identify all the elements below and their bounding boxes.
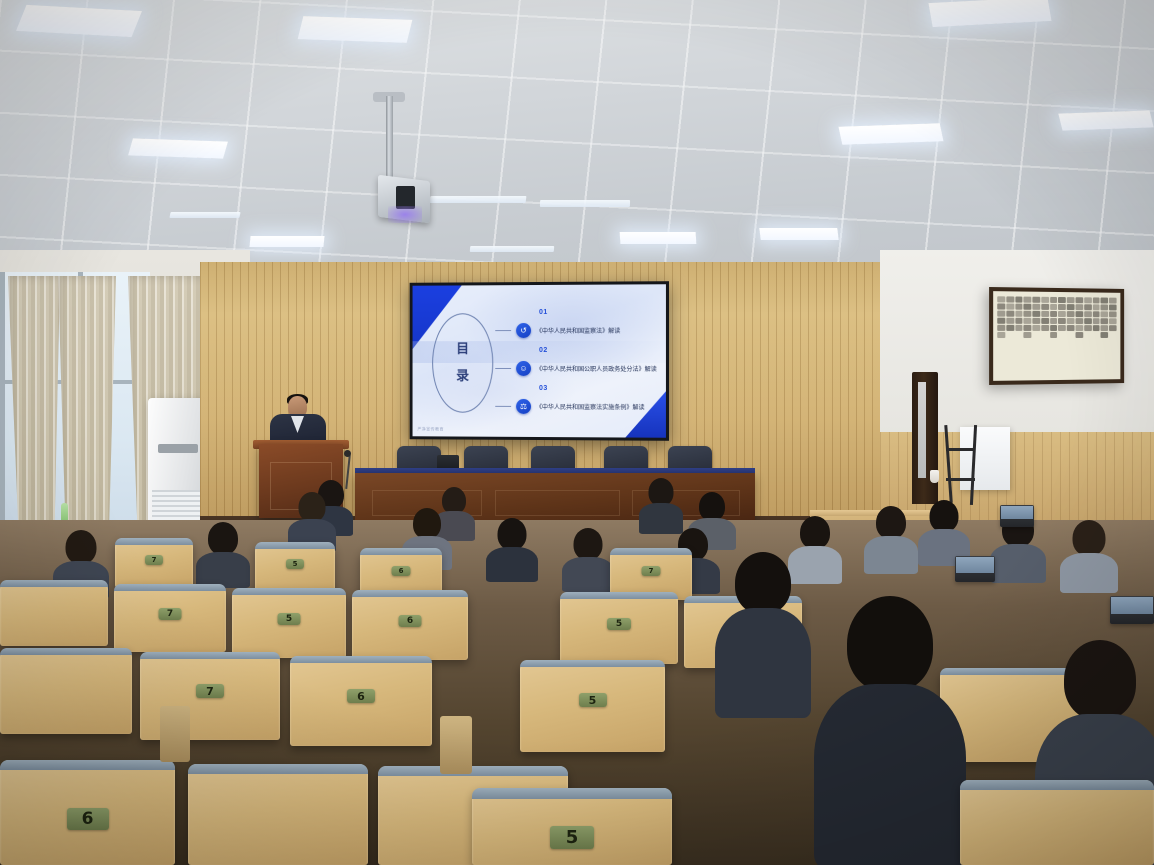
laptop-screen: [1111, 597, 1153, 614]
seat-armrest: [440, 716, 472, 774]
calligraphy-character: [1024, 311, 1032, 317]
seat-number-plate: 5: [278, 613, 301, 625]
calligraphy-character: [1015, 296, 1023, 302]
seat-number-plate: 5: [286, 559, 304, 569]
calligraphy-character: [1058, 318, 1066, 324]
calligraphy-character: [1050, 304, 1058, 310]
door-glass-panel: [918, 382, 926, 478]
audience-member: [640, 478, 682, 530]
calligraphy-column: [1050, 297, 1058, 375]
seat-cushion-top: [0, 760, 175, 770]
toc-connector-line: [495, 368, 511, 369]
toc-row-01: ↺ 《中华人民共和国监察法》解读: [495, 323, 620, 338]
seat-cushion-top: [360, 548, 442, 555]
toc-label-02: 《中华人民共和国公职人员政务处分法》解读: [536, 364, 657, 373]
calligraphy-character: [1032, 311, 1040, 317]
toc-number-01: 01: [539, 309, 548, 316]
calligraphy-character: [1067, 311, 1075, 317]
seat-cushion-top: [0, 648, 132, 655]
clock-refresh-icon: ↺: [516, 323, 531, 338]
calligraphy-character: [1041, 297, 1049, 303]
calligraphy-character: [1101, 298, 1108, 304]
calligraphy-character: [1101, 325, 1108, 331]
ceiling-led-panel: [759, 228, 838, 240]
auditorium-seat[interactable]: 5: [255, 542, 335, 592]
scales-balance-icon: ⚖: [516, 399, 531, 414]
calligraphy-column: [1076, 297, 1084, 375]
audience-member: [920, 500, 968, 562]
calligraphy-character: [1076, 318, 1084, 324]
toc-connector-line: [495, 406, 511, 407]
calligraphy-character: [1015, 304, 1023, 310]
calligraphy-character: [1084, 325, 1091, 331]
seat-cushion-top: [472, 788, 672, 799]
auditorium-seat[interactable]: 7: [114, 584, 226, 652]
calligraphy-character: [1101, 318, 1108, 324]
calligraphy-character: [1076, 304, 1084, 310]
calligraphy-character: [1084, 311, 1091, 317]
calligraphy-character: [1067, 304, 1075, 310]
calligraphy-character: [1024, 325, 1032, 331]
calligraphy-character: [1050, 332, 1058, 338]
seat-cushion-top: [520, 660, 665, 667]
person-torso: [715, 608, 811, 718]
projector-beam-glow: [388, 206, 422, 223]
calligraphy-character: [1041, 325, 1049, 331]
person-head: [735, 552, 791, 614]
person-head: [498, 518, 527, 550]
person-head: [847, 596, 933, 692]
laptop-screen: [1001, 506, 1033, 519]
calligraphy-character: [1092, 304, 1099, 310]
calligraphy-character: [1041, 311, 1049, 317]
calligraphy-column: [1101, 298, 1108, 375]
microphone-head: [344, 450, 351, 457]
calligraphy-character: [1092, 325, 1099, 331]
easel-crossbar: [946, 478, 975, 481]
calligraphy-character: [1024, 332, 1032, 338]
calligraphy-column: [1067, 297, 1075, 375]
calligraphy-character: [1076, 332, 1084, 338]
audience-member: [290, 492, 334, 548]
calligraphy-character: [1058, 297, 1066, 303]
seat-cushion-top: [188, 764, 368, 774]
person-head: [1073, 520, 1106, 556]
conference-table-panel: [495, 490, 620, 516]
calligraphy-column: [997, 296, 1005, 375]
ceiling-led-panel: [1058, 110, 1153, 130]
seat-number-plate: 7: [196, 684, 224, 698]
seat-cushion-top: [960, 780, 1154, 790]
audience-member: [1062, 520, 1116, 588]
person-torso: [196, 552, 250, 588]
calligraphy-character: [1109, 304, 1116, 310]
seat-cushion-top: [114, 584, 226, 591]
seat-cushion-top: [115, 538, 193, 545]
calligraphy-character: [1092, 318, 1099, 324]
calligraphy-character: [1006, 311, 1014, 317]
calligraphy-character: [1024, 318, 1032, 324]
auditorium-seat[interactable]: 5: [232, 588, 346, 658]
laptop[interactable]: [1000, 505, 1034, 527]
auditorium-seat-front-row[interactable]: 5: [472, 788, 672, 865]
person-head: [800, 516, 830, 549]
auditorium-seat-front-row[interactable]: [960, 780, 1154, 865]
toc-char-mu: 目: [456, 343, 469, 356]
calligraphy-character: [1058, 325, 1066, 331]
seat-cushion-top: [560, 592, 678, 599]
audience-member: [198, 522, 248, 584]
laptop[interactable]: [1110, 596, 1154, 624]
presentation-slide: 目 录 01 ↺ 《中华人民共和国监察法》解读 02 ☺ 《中华人民共和国公职人…: [413, 284, 666, 438]
calligraphy-character: [1076, 297, 1084, 303]
conference-hall-photo: 目 录 01 ↺ 《中华人民共和国监察法》解读 02 ☺ 《中华人民共和国公职人…: [0, 0, 1154, 865]
calligraphy-character: [997, 325, 1005, 331]
calligraphy-paper: [993, 291, 1120, 381]
calligraphy-character: [1041, 304, 1049, 310]
calligraphy-character: [1084, 318, 1091, 324]
auditorium-seat-front-row[interactable]: [188, 764, 368, 865]
seat-number-plate: 6: [67, 808, 109, 830]
calligraphy-column: [1084, 297, 1091, 374]
calligraphy-character: [1024, 304, 1032, 310]
calligraphy-character: [1084, 297, 1091, 303]
calligraphy-character: [1058, 311, 1066, 317]
auditorium-seat[interactable]: [0, 580, 108, 646]
calligraphy-character: [1050, 311, 1058, 317]
calligraphy-character: [1092, 297, 1099, 303]
calligraphy-character: [1109, 318, 1116, 324]
calligraphy-character: [1032, 304, 1040, 310]
projector-pole: [386, 96, 393, 188]
seat-cushion-top: [610, 548, 692, 555]
seat-number-plate: 6: [399, 615, 422, 627]
laptop-screen: [956, 557, 994, 573]
person-torso: [990, 544, 1046, 583]
ceiling-led-panel: [838, 123, 943, 145]
toc-number-02: 02: [539, 347, 548, 354]
person-torso: [1060, 553, 1118, 593]
ceiling-light-strip: [430, 196, 527, 203]
ceiling-led-panel: [128, 138, 228, 158]
calligraphy-character: [1076, 325, 1084, 331]
calligraphy-character: [1006, 296, 1014, 302]
calligraphy-character: [997, 318, 1005, 324]
seat-number-plate: 5: [550, 826, 594, 849]
seat-cushion-top: [232, 588, 346, 595]
calligraphy-character: [1032, 318, 1040, 324]
calligraphy-character: [1015, 311, 1023, 317]
calligraphy-character: [1006, 303, 1014, 309]
audience-member: [564, 528, 612, 588]
calligraphy-character: [1006, 318, 1014, 324]
table-of-contents-ellipse: 目 录: [432, 313, 493, 413]
calligraphy-character: [1092, 311, 1099, 317]
calligraphy-column: [1032, 297, 1040, 376]
calligraphy-character: [1015, 318, 1023, 324]
projection-screen: 目 录 01 ↺ 《中华人民共和国监察法》解读 02 ☺ 《中华人民共和国公职人…: [410, 281, 669, 441]
person-head: [299, 492, 326, 522]
calligraphy-character: [1050, 325, 1058, 331]
people-group-icon: ☺: [516, 361, 531, 376]
toc-connector-line: [495, 330, 511, 331]
person-head: [876, 506, 906, 539]
calligraphy-character: [1050, 297, 1058, 303]
audience-member: [866, 506, 916, 570]
person-head: [649, 478, 674, 506]
ceiling-led-panel: [620, 232, 697, 244]
seat-armrest: [160, 706, 190, 762]
calligraphy-column: [1058, 297, 1066, 375]
person-head: [413, 508, 441, 539]
seat-cushion-top: [378, 766, 568, 776]
seat-cushion-top: [140, 652, 280, 659]
person-torso: [864, 536, 918, 574]
calligraphy-character: [997, 296, 1005, 302]
calligraphy-character: [1076, 311, 1084, 317]
person-head: [699, 492, 725, 521]
toc-char-lu: 录: [456, 370, 469, 383]
calligraphy-character: [1067, 297, 1075, 303]
auditorium-seat[interactable]: 6: [290, 656, 432, 746]
slide-watermark: 严净宣传教育: [417, 426, 443, 432]
calligraphy-character: [997, 311, 1005, 317]
toc-label-03: 《中华人民共和国监察法实施条例》解读: [536, 402, 645, 411]
seat-cushion-top: [255, 542, 335, 549]
auditorium-seat[interactable]: 5: [520, 660, 665, 752]
auditorium-seat-front-row[interactable]: 6: [0, 760, 175, 865]
calligraphy-column: [1092, 297, 1099, 374]
person-head: [930, 500, 959, 532]
toc-row-02: ☺ 《中华人民共和国公职人员政务处分法》解读: [495, 361, 657, 376]
ceiling-light-strip: [470, 246, 555, 252]
calligraphy-character: [1101, 311, 1108, 317]
calligraphy-artwork-frame: [989, 287, 1124, 385]
person-head: [66, 530, 97, 564]
seat-number-plate: 6: [347, 689, 375, 703]
toc-label-01: 《中华人民共和国监察法》解读: [536, 326, 620, 335]
calligraphy-character: [1084, 304, 1091, 310]
person-head: [574, 528, 603, 560]
calligraphy-character: [1006, 325, 1014, 331]
ceiling-light-strip: [169, 212, 240, 218]
seat-number-plate: 5: [579, 693, 607, 707]
toc-number-03: 03: [539, 385, 548, 392]
seat-cushion-top: [290, 656, 432, 663]
calligraphy-character: [1032, 325, 1040, 331]
calligraphy-character: [1058, 304, 1066, 310]
calligraphy-character: [1109, 298, 1116, 304]
audience-member-foreground: [820, 596, 960, 865]
seat-number-plate: 7: [159, 608, 182, 620]
auditorium-seat[interactable]: 5: [560, 592, 678, 664]
seat-number-plate: 6: [392, 566, 411, 576]
ceiling-light-strip: [540, 200, 630, 207]
calligraphy-character: [1067, 318, 1075, 324]
ceiling-led-panel: [249, 236, 324, 247]
audience-member-foreground: [718, 552, 808, 712]
calligraphy-character: [997, 332, 1005, 338]
person-torso: [486, 547, 538, 582]
seat-cushion-top: [352, 590, 468, 597]
calligraphy-column: [1024, 297, 1032, 376]
ceiling-led-panel: [298, 16, 413, 43]
seat-number-plate: 7: [145, 555, 163, 565]
calligraphy-character: [1024, 297, 1032, 303]
calligraphy-character: [1101, 332, 1108, 338]
person-torso: [562, 557, 614, 592]
calligraphy-column: [1006, 296, 1014, 375]
seat-number-plate: 5: [607, 618, 631, 630]
calligraphy-character: [1101, 304, 1108, 310]
calligraphy-character: [997, 303, 1005, 309]
calligraphy-character: [1109, 325, 1116, 331]
toc-row-03: ⚖ 《中华人民共和国监察法实施条例》解读: [495, 399, 644, 415]
easel-crossbar: [946, 448, 974, 451]
person-torso: [814, 684, 966, 865]
calligraphy-column: [1041, 297, 1049, 375]
auditorium-seat[interactable]: 6: [352, 590, 468, 660]
person-head: [1064, 640, 1136, 720]
seat-number-plate: 7: [642, 566, 661, 576]
calligraphy-character: [1067, 325, 1075, 331]
air-conditioner-control-panel[interactable]: [158, 444, 198, 453]
calligraphy-character: [1032, 297, 1040, 303]
auditorium-seat[interactable]: [0, 648, 132, 734]
seat-cushion-top: [0, 580, 108, 587]
person-head: [208, 522, 238, 555]
calligraphy-character: [1015, 325, 1023, 331]
auditorium-seat[interactable]: 7: [115, 538, 193, 588]
laptop[interactable]: [955, 556, 995, 582]
paper-cup: [930, 470, 939, 483]
calligraphy-character: [1109, 311, 1116, 317]
calligraphy-character: [1041, 318, 1049, 324]
audience-member: [488, 518, 536, 578]
calligraphy-column: [1015, 296, 1023, 375]
calligraphy-character: [1050, 318, 1058, 324]
calligraphy-column: [1109, 298, 1116, 375]
